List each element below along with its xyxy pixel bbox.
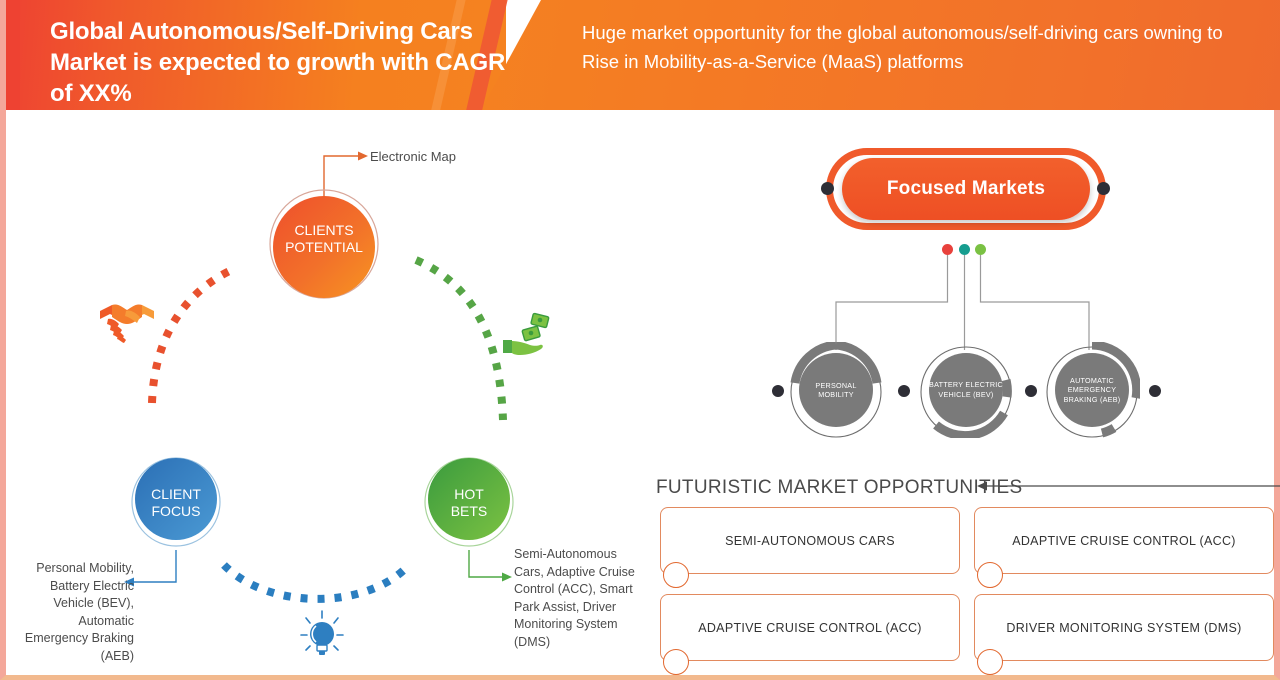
node-dot-1 xyxy=(772,385,784,397)
focused-markets-dot-left xyxy=(821,182,834,195)
arc-green-dotted xyxy=(416,260,503,420)
opportunity-card-4-label: DRIVER MONITORING SYSTEM (DMS) xyxy=(1006,621,1241,635)
opportunity-card-4-ring xyxy=(977,649,1003,675)
hot-bets-label-line2: BETS xyxy=(427,503,511,520)
opportunity-card-3[interactable]: ADAPTIVE CRUISE CONTROL (ACC) xyxy=(660,594,960,661)
battery-electric-vehicle-label-line2: VEHICLE (BEV) xyxy=(938,390,993,400)
page-subtitle: Huge market opportunity for the global a… xyxy=(582,18,1262,76)
opportunities-arrow xyxy=(976,478,1280,494)
opportunity-card-1-label: SEMI-AUTONOMOUS CARS xyxy=(725,534,895,548)
callout-electronic-map: Electronic Map xyxy=(370,149,456,164)
infographic-root: Global Autonomous/Self-Driving Cars Mark… xyxy=(0,0,1280,680)
clients-potential-label: CLIENTS POTENTIAL xyxy=(274,222,374,256)
hot-bets-label-line1: HOT xyxy=(427,486,511,503)
automatic-emergency-braking-label-line3: BRAKING (AEB) xyxy=(1064,395,1121,405)
hot-bets-label: HOT BETS xyxy=(427,486,511,520)
handshake-icon xyxy=(96,295,158,347)
opportunity-card-3-ring xyxy=(663,649,689,675)
market-circle-personal-mobility[interactable]: PERSONAL MOBILITY xyxy=(788,342,884,438)
header-banner: Global Autonomous/Self-Driving Cars Mark… xyxy=(6,0,1280,110)
node-dot-4 xyxy=(1149,385,1161,397)
opportunity-card-1[interactable]: SEMI-AUTONOMOUS CARS xyxy=(660,507,960,574)
opportunity-card-2[interactable]: ADAPTIVE CRUISE CONTROL (ACC) xyxy=(974,507,1274,574)
node-dot-3 xyxy=(1025,385,1037,397)
opportunity-card-2-label: ADAPTIVE CRUISE CONTROL (ACC) xyxy=(1012,534,1236,548)
focused-markets-button[interactable]: Focused Markets xyxy=(842,158,1090,220)
personal-mobility-label: PERSONAL MOBILITY xyxy=(788,381,884,400)
page-title: Global Autonomous/Self-Driving Cars Mark… xyxy=(50,16,520,109)
arc-blue-dotted xyxy=(224,565,408,599)
focused-markets-label: Focused Markets xyxy=(887,178,1045,200)
callout-client-focus-detail: Personal Mobility, Battery Electric Vehi… xyxy=(12,560,134,665)
opportunities-title: FUTURISTIC MARKET OPPORTUNITIES xyxy=(656,477,1022,499)
opportunity-card-2-ring xyxy=(977,562,1003,588)
market-circle-automatic-emergency-braking[interactable]: AUTOMATIC EMERGENCY BRAKING (AEB) xyxy=(1044,342,1140,438)
automatic-emergency-braking-label-line2: EMERGENCY xyxy=(1068,385,1117,395)
opportunity-card-1-ring xyxy=(663,562,689,588)
focused-markets-dot-right xyxy=(1097,182,1110,195)
leader-client-focus xyxy=(134,550,176,582)
node-dot-2 xyxy=(898,385,910,397)
leader-electronic-map xyxy=(324,156,358,200)
automatic-emergency-braking-label-line1: AUTOMATIC xyxy=(1070,376,1114,386)
money-hand-icon xyxy=(501,310,553,358)
battery-electric-vehicle-label-line1: BATTERY ELECTRIC xyxy=(929,380,1003,390)
market-circle-battery-electric-vehicle[interactable]: BATTERY ELECTRIC VEHICLE (BEV) xyxy=(918,342,1014,438)
clients-potential-label-line2: POTENTIAL xyxy=(274,239,374,256)
lightbulb-icon xyxy=(298,610,346,660)
client-focus-label-line2: FOCUS xyxy=(134,503,218,520)
opportunity-card-3-label: ADAPTIVE CRUISE CONTROL (ACC) xyxy=(698,621,922,635)
opportunity-card-4[interactable]: DRIVER MONITORING SYSTEM (DMS) xyxy=(974,594,1274,661)
leader-hot-bets xyxy=(469,550,502,577)
arc-orange-dotted xyxy=(152,268,236,403)
clients-potential-label-line1: CLIENTS xyxy=(274,222,374,239)
header-left-edge-accent xyxy=(6,0,20,110)
callout-hot-bets-detail: Semi-Autonomous Cars, Adaptive Cruise Co… xyxy=(514,546,642,651)
client-focus-label: CLIENT FOCUS xyxy=(134,486,218,520)
arrowhead-electronic-map xyxy=(358,152,368,161)
client-focus-label-line1: CLIENT xyxy=(134,486,218,503)
arrowhead-hot-bets xyxy=(502,573,512,582)
